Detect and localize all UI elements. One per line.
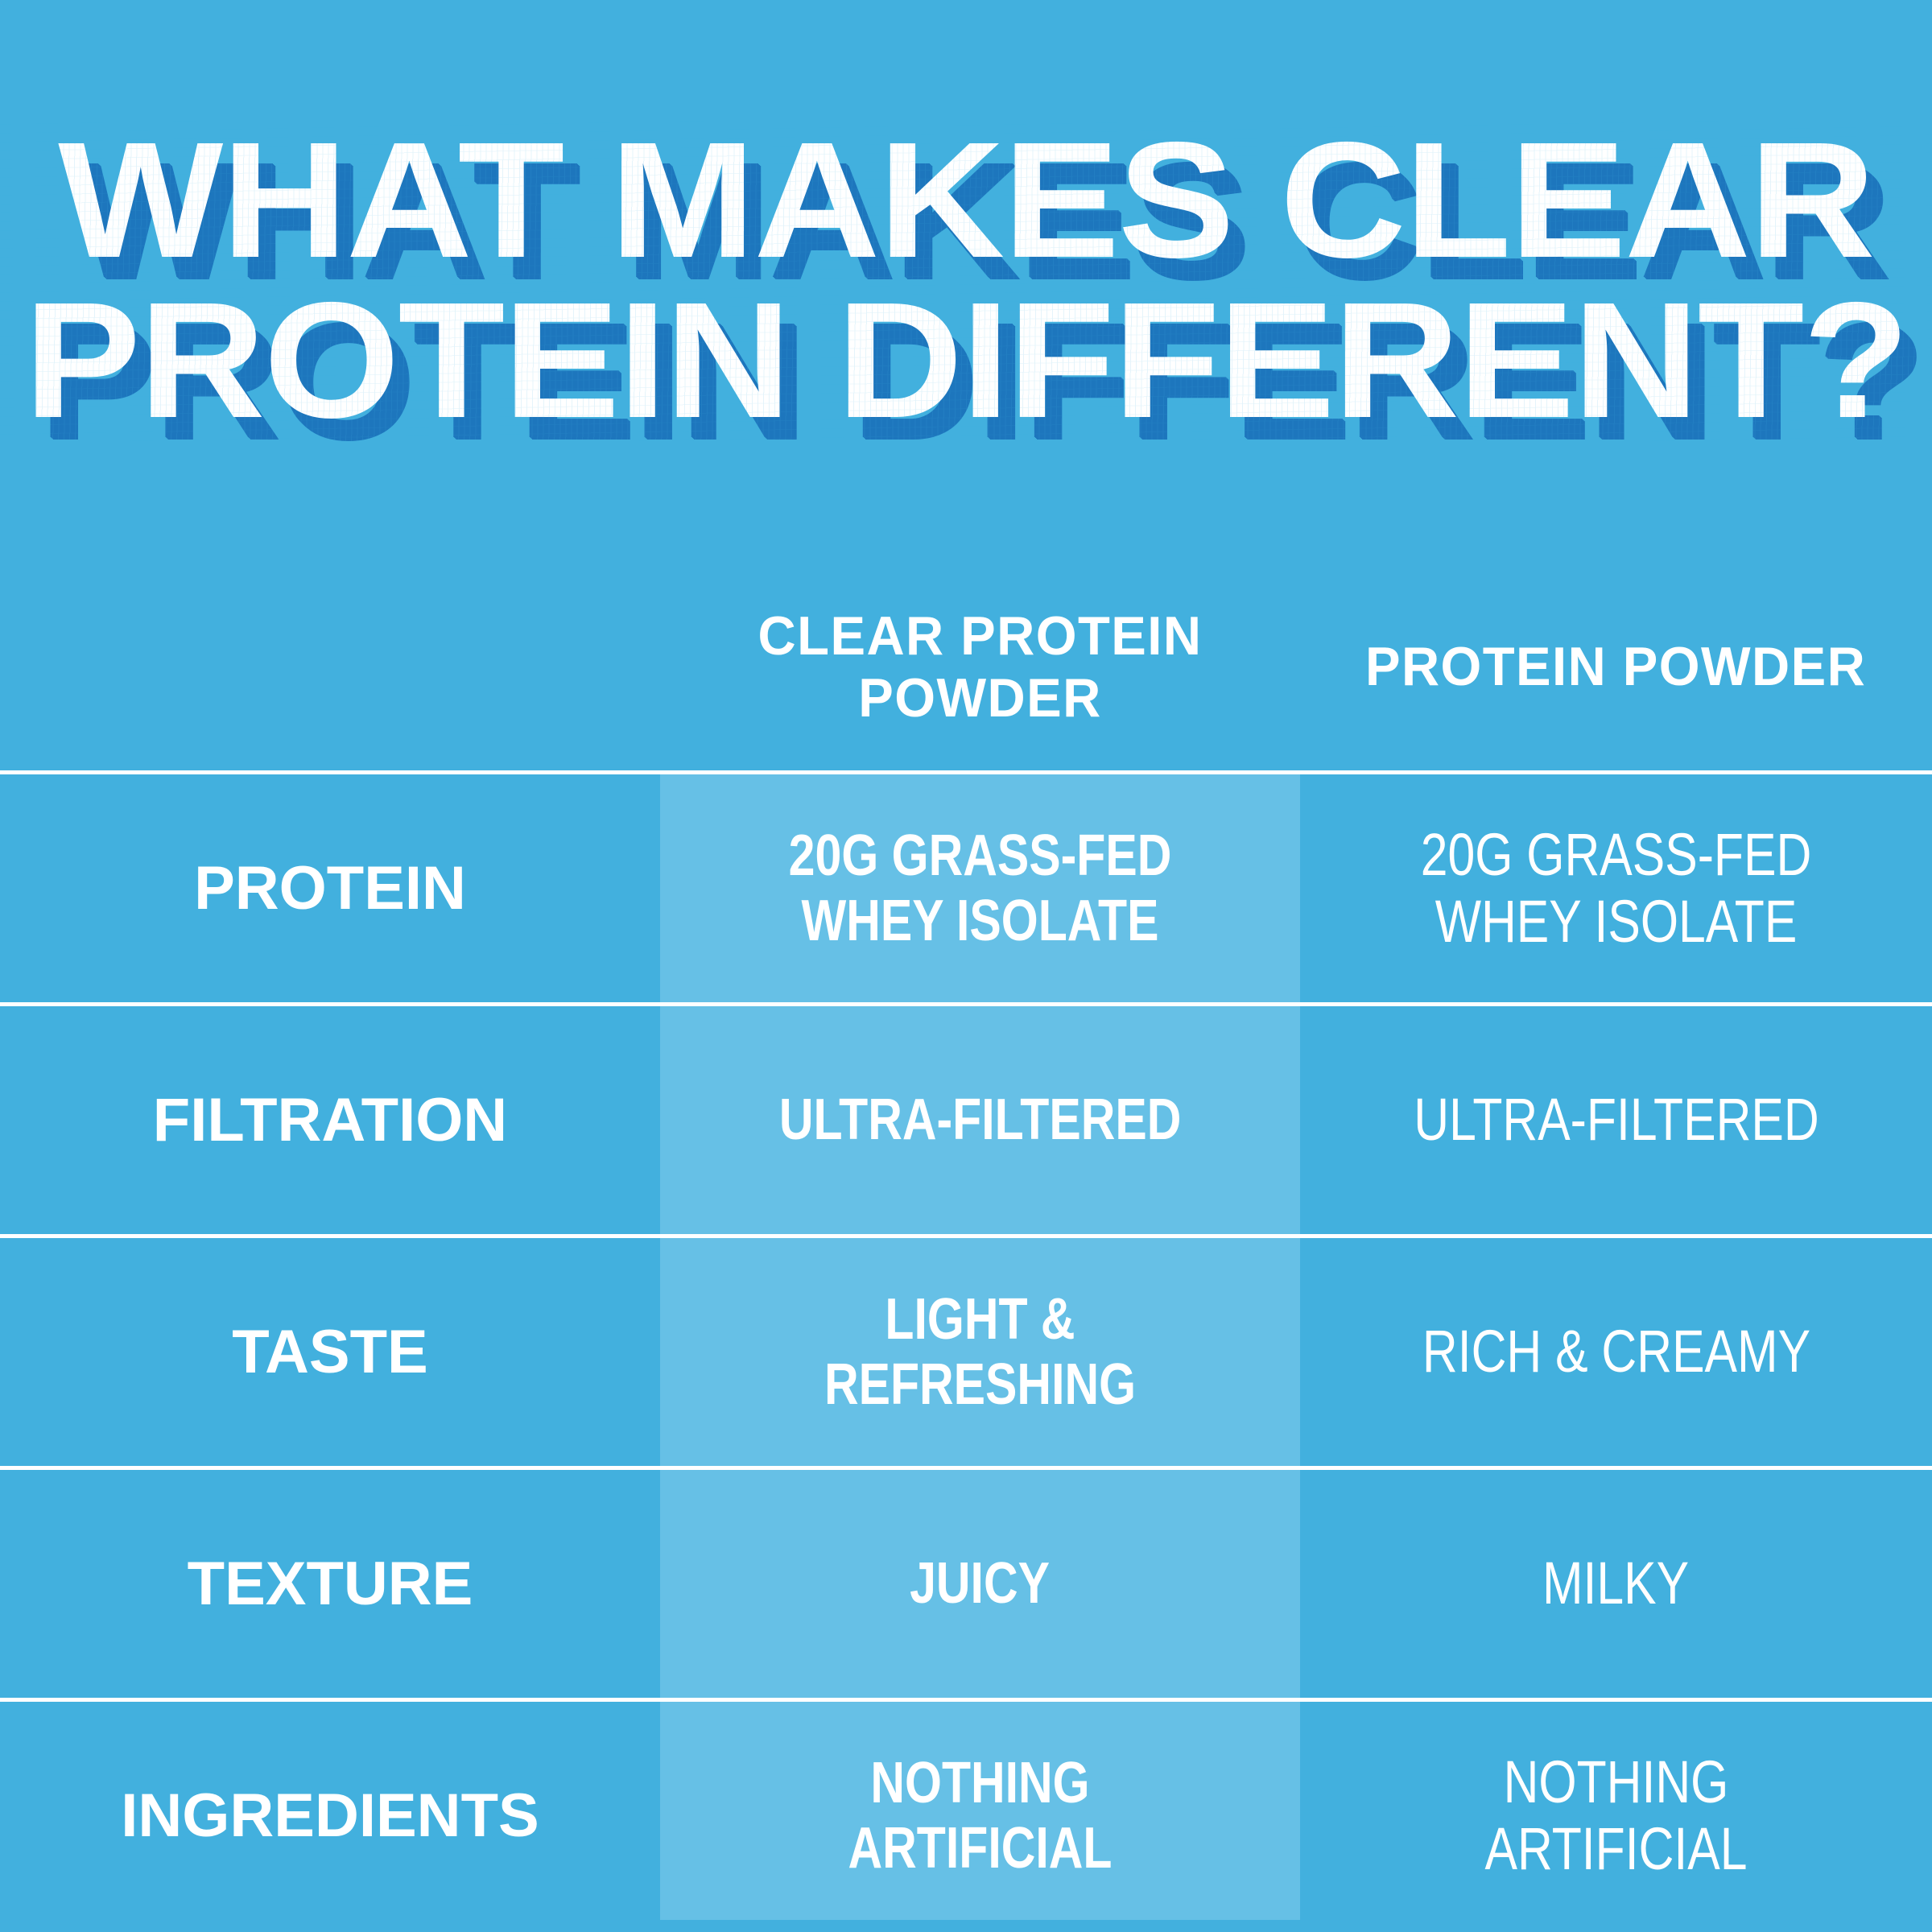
value-clear-protein-protein: 20g GRASS-FED WHEY ISOLATE — [733, 824, 1227, 953]
table-row: TEXTURE JUICY MILKY — [0, 1466, 1932, 1698]
row-value-protein-powder: ULTRA-FILTERED — [1300, 1006, 1932, 1234]
value-protein-powder-taste: RICH & CREAMY — [1422, 1319, 1810, 1385]
value-protein-powder-protein: 20g GRASS-FED WHEY ISOLATE — [1373, 822, 1859, 956]
value-protein-powder-texture: MILKY — [1542, 1550, 1689, 1617]
header-label-clear-protein-powder: CLEAR PROTEIN POWDER — [691, 605, 1269, 728]
row-label-cell: INGREDIENTS — [0, 1702, 660, 1930]
value-protein-powder-ingredients: NOTHING ARTIFICIAL — [1373, 1749, 1859, 1883]
title-line-1: WHAT MAKES CLEAR — [0, 121, 1932, 281]
row-value-clear-protein: NOTHING ARTIFICIAL — [660, 1702, 1300, 1930]
header-label-protein-powder: PROTEIN POWDER — [1365, 636, 1866, 697]
row-label-cell: TASTE — [0, 1238, 660, 1466]
row-value-protein-powder: 20g GRASS-FED WHEY ISOLATE — [1300, 774, 1932, 1002]
row-value-clear-protein: ULTRA-FILTERED — [660, 1006, 1300, 1234]
row-value-clear-protein: LIGHT & REFRESHING — [660, 1238, 1300, 1466]
row-label-taste: TASTE — [232, 1317, 427, 1387]
row-label-cell: TEXTURE — [0, 1470, 660, 1698]
row-label-ingredients: INGREDIENTS — [121, 1781, 539, 1851]
comparison-table: CLEAR PROTEIN POWDER PROTEIN POWDER PROT… — [0, 563, 1932, 1930]
row-label-protein: PROTEIN — [194, 853, 466, 923]
header-cell-protein-powder: PROTEIN POWDER — [1300, 563, 1932, 770]
table-row: FILTRATION ULTRA-FILTERED ULTRA-FILTERED — [0, 1002, 1932, 1234]
table-row: INGREDIENTS NOTHING ARTIFICIAL NOTHING A… — [0, 1698, 1932, 1930]
row-label-texture: TEXTURE — [188, 1549, 473, 1619]
row-value-clear-protein: JUICY — [660, 1470, 1300, 1698]
header-cell-attribute — [0, 563, 660, 770]
table-row: TASTE LIGHT & REFRESHING RICH & CREAMY — [0, 1234, 1932, 1466]
row-value-protein-powder: MILKY — [1300, 1470, 1932, 1698]
comparison-infographic: WHAT MAKES CLEAR PROTEIN DIFFERENT? CLEA… — [0, 0, 1932, 1932]
title-line-2: PROTEIN DIFFERENT? — [0, 281, 1932, 441]
row-value-protein-powder: RICH & CREAMY — [1300, 1238, 1932, 1466]
table-row: PROTEIN 20g GRASS-FED WHEY ISOLATE 20g G… — [0, 770, 1932, 1002]
row-label-cell: FILTRATION — [0, 1006, 660, 1234]
value-clear-protein-taste: LIGHT & REFRESHING — [733, 1287, 1227, 1417]
value-protein-powder-filtration: ULTRA-FILTERED — [1414, 1087, 1818, 1154]
row-label-cell: PROTEIN — [0, 774, 660, 1002]
header-cell-clear-protein-powder: CLEAR PROTEIN POWDER — [660, 563, 1300, 770]
row-label-filtration: FILTRATION — [153, 1085, 507, 1155]
table-header-row: CLEAR PROTEIN POWDER PROTEIN POWDER — [0, 563, 1932, 770]
row-value-protein-powder: NOTHING ARTIFICIAL — [1300, 1702, 1932, 1930]
value-clear-protein-ingredients: NOTHING ARTIFICIAL — [733, 1751, 1227, 1880]
value-clear-protein-filtration: ULTRA-FILTERED — [779, 1088, 1182, 1153]
value-clear-protein-texture: JUICY — [910, 1551, 1051, 1616]
row-value-clear-protein: 20g GRASS-FED WHEY ISOLATE — [660, 774, 1300, 1002]
page-title: WHAT MAKES CLEAR PROTEIN DIFFERENT? — [0, 121, 1932, 441]
